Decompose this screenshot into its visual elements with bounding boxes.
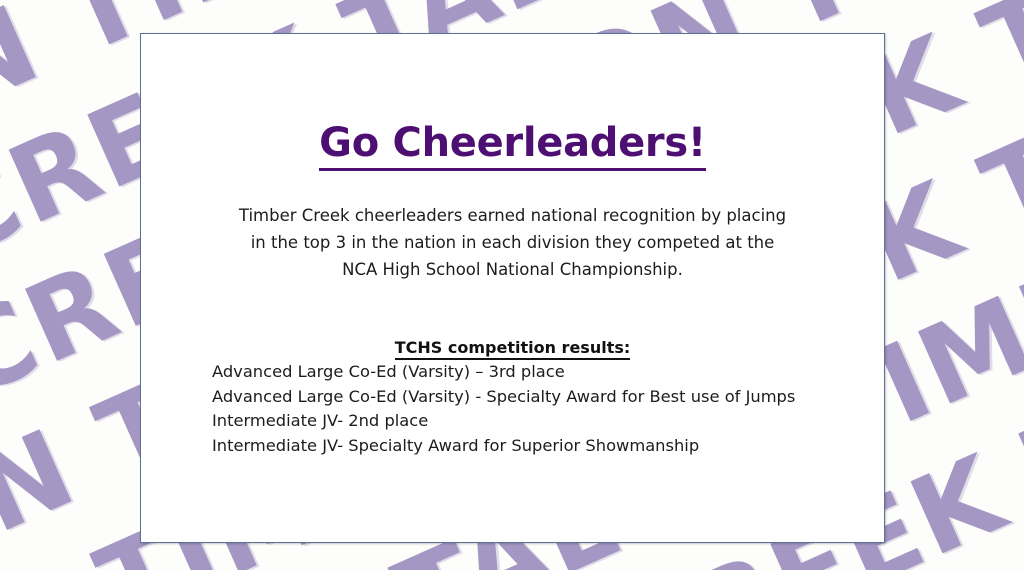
card-inner: Go Cheerleaders! Timber Creek cheerleade… [141, 34, 884, 458]
page-title: Go Cheerleaders! [175, 34, 850, 166]
results-block: TCHS competition results: Advanced Large… [175, 283, 850, 458]
list-item: Intermediate JV- Specialty Award for Sup… [212, 434, 850, 459]
list-item: Intermediate JV- 2nd place [212, 409, 850, 434]
slide-canvas: TIMBER CREEK TALON TIMBER CREEK TALON TI… [0, 0, 1024, 570]
results-heading: TCHS competition results: [175, 338, 850, 357]
results-list: Advanced Large Co-Ed (Varsity) – 3rd pla… [175, 360, 850, 458]
list-item: Advanced Large Co-Ed (Varsity) - Special… [212, 385, 850, 410]
page-title-text: Go Cheerleaders! [319, 120, 706, 171]
results-heading-text: TCHS competition results: [395, 338, 631, 360]
intro-paragraph-line: in the top 3 in the nation in each divis… [175, 229, 850, 256]
content-card: Go Cheerleaders! Timber Creek cheerleade… [140, 33, 885, 543]
intro-paragraph-line: Timber Creek cheerleaders earned nationa… [175, 202, 850, 229]
intro-paragraph: Timber Creek cheerleaders earned nationa… [175, 166, 850, 283]
intro-paragraph-line: NCA High School National Championship. [175, 256, 850, 283]
list-item: Advanced Large Co-Ed (Varsity) – 3rd pla… [212, 360, 850, 385]
